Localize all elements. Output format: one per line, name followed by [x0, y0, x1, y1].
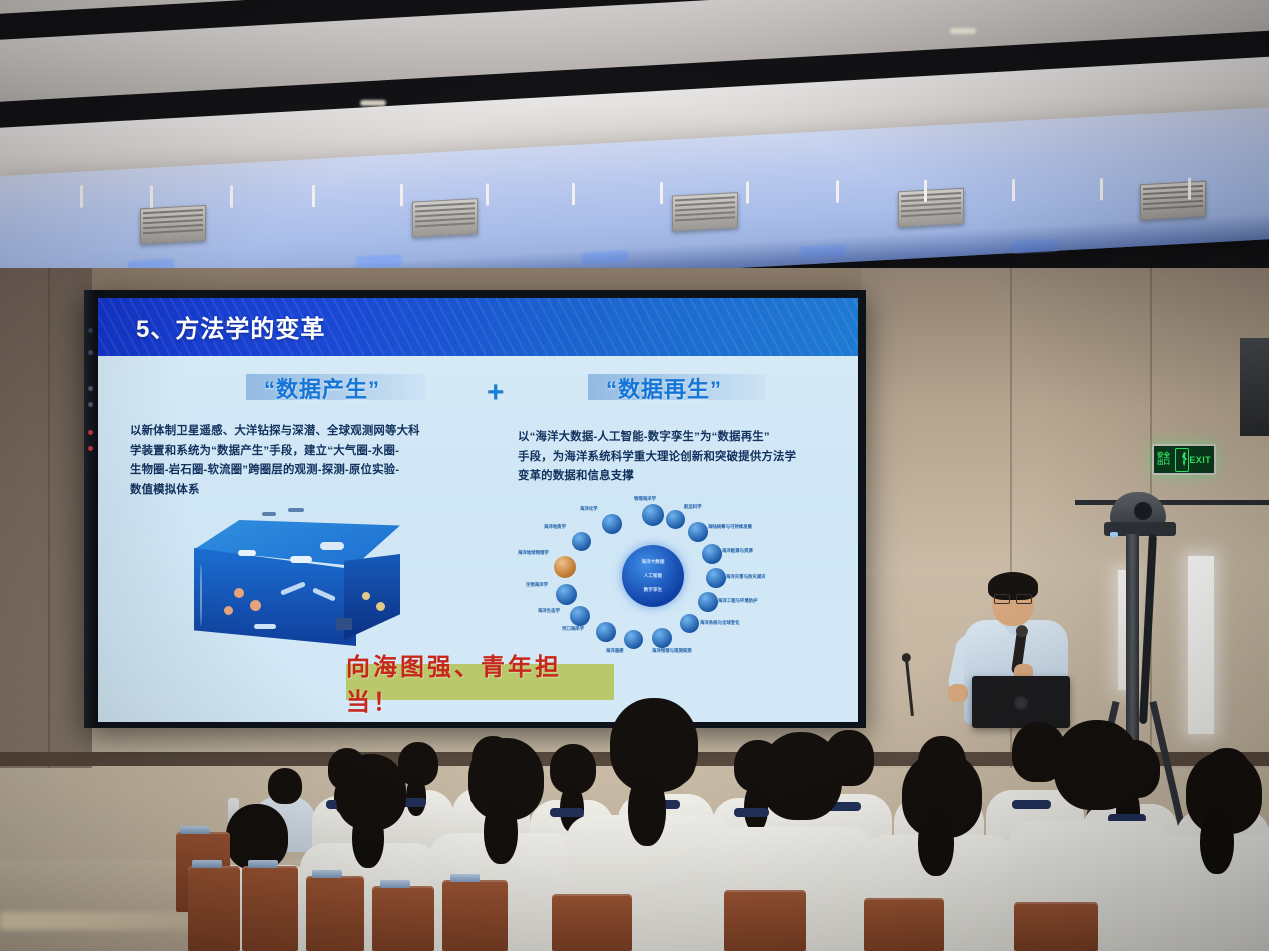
auditorium-seat[interactable] [1014, 902, 1098, 951]
left-column-heading: “数据产生” [264, 372, 380, 404]
diagram-node-label-6: 河口海岸学 [562, 626, 584, 632]
slide-title: 5、方法学的变革 [136, 309, 325, 344]
right-body-line-2: 手段，为海洋系统科学重大理论创新和突破提供方法学 [518, 448, 840, 468]
auditorium-seat[interactable] [864, 898, 944, 951]
right-column-body: 以“海洋大数据-人工智能-数字孪生”为“数据再生” 手段，为海洋系统科学重大理论… [518, 428, 840, 487]
diagram-node-label-12: 海洋能源与资源 [722, 548, 753, 554]
left-body-line-4: 数值模拟体系 [130, 481, 460, 501]
plus-symbol: + [487, 376, 505, 410]
left-wall [0, 268, 92, 768]
diagram-node-label-2: 海洋地质学 [544, 524, 566, 530]
exit-sign-english: EXIT [1189, 455, 1211, 465]
auditorium-seat[interactable] [552, 894, 632, 951]
right-body-line-1: 以“海洋大数据-人工智能-数字孪生”为“数据再生” [518, 428, 840, 448]
exit-sign: 安全出口 EXIT [1152, 444, 1216, 475]
slogan-text: 向海图强、青年担当！ [346, 647, 614, 717]
camera-lens-icon [1134, 502, 1152, 520]
led-screen-frame: 5、方法学的变革 “数据产生” 以新体制卫星遥感、大洋钻探与深潜、全球观测网等大… [84, 290, 866, 728]
diagram-node-label-5: 海洋生态学 [538, 608, 560, 614]
presenter-laptop [972, 676, 1070, 728]
core-line-1: 海洋大数据 [622, 559, 684, 565]
auditorium-seat[interactable] [442, 880, 508, 951]
diagram-node-label-11: 海洋灾害与防灾减灾 [726, 574, 766, 580]
slogan-banner: 向海图强、青年担当！ [346, 664, 614, 700]
auditorium-seat[interactable] [188, 866, 240, 951]
exit-sign-chinese: 安全出口 [1157, 453, 1175, 466]
auditorium-seat[interactable] [724, 890, 806, 951]
wall-speaker [1240, 338, 1269, 436]
diagram-node-label-10: 海洋工程与环境防护 [718, 598, 758, 604]
left-body-line-1: 以新体制卫星遥感、大洋钻探与深潜、全球观测网等大科 [130, 422, 460, 442]
presentation-screen: 5、方法学的变革 “数据产生” 以新体制卫星遥感、大洋钻探与深潜、全球观测网等大… [98, 298, 858, 722]
left-column-body: 以新体制卫星遥感、大洋钻探与深潜、全球观测网等大科 学装置和系统为“数据产生”手… [130, 422, 460, 500]
glasses-icon [994, 594, 1032, 602]
diagram-node-label-0: 物理海洋学 [634, 496, 656, 502]
ocean-block-illustration [194, 520, 400, 646]
core-line-2: 人工智能 [622, 573, 684, 579]
auditorium-seat[interactable] [306, 876, 364, 951]
diagram-node-label-9: 海洋系统与全球变化 [700, 620, 740, 626]
left-body-line-2: 学装置和系统为“数据产生”手段，建立“大气圈-水圈- [130, 442, 460, 462]
diagram-core: 海洋大数据 人工智能 数字孪生 [622, 545, 684, 607]
diagram-node-label-8: 海洋物理与观测探测 [652, 648, 692, 654]
ocean-bigdata-circular-diagram: 海洋大数据 人工智能 数字孪生 物理海洋学 海洋化学 海洋地质学 海洋地球物理学… [518, 498, 780, 656]
diagram-node-label-1: 海洋化学 [580, 506, 598, 512]
screen-bezel [84, 290, 98, 728]
ptz-camera [1104, 492, 1182, 540]
wall-light-strip [1188, 556, 1214, 734]
auditorium-seat[interactable] [372, 886, 434, 951]
auditorium-seat[interactable] [242, 866, 298, 951]
running-person-icon [1175, 448, 1189, 472]
slide: 5、方法学的变革 “数据产生” 以新体制卫星遥感、大洋钻探与深潜、全球观测网等大… [98, 298, 858, 722]
lecture-hall-scene: 5、方法学的变革 “数据产生” 以新体制卫星遥感、大洋钻探与深潜、全球观测网等大… [0, 0, 1269, 951]
left-body-line-3: 生物圈-岩石圈-软流圈”跨圈层的观测-探测-原位实验- [130, 461, 460, 481]
right-body-line-3: 变革的数据和信息支撑 [518, 467, 840, 487]
diagram-node-label-4: 生物海洋学 [526, 582, 548, 588]
diagram-node-label-13: 海陆统筹与可持续发展 [708, 524, 752, 530]
diagram-node-label-3: 海洋地球物理学 [518, 550, 549, 556]
audience-member-front [1150, 800, 1269, 951]
right-column-heading: “数据再生” [606, 372, 722, 404]
diagram-node-label-14: 航运科学 [684, 504, 702, 510]
core-line-3: 数字孪生 [622, 587, 684, 593]
